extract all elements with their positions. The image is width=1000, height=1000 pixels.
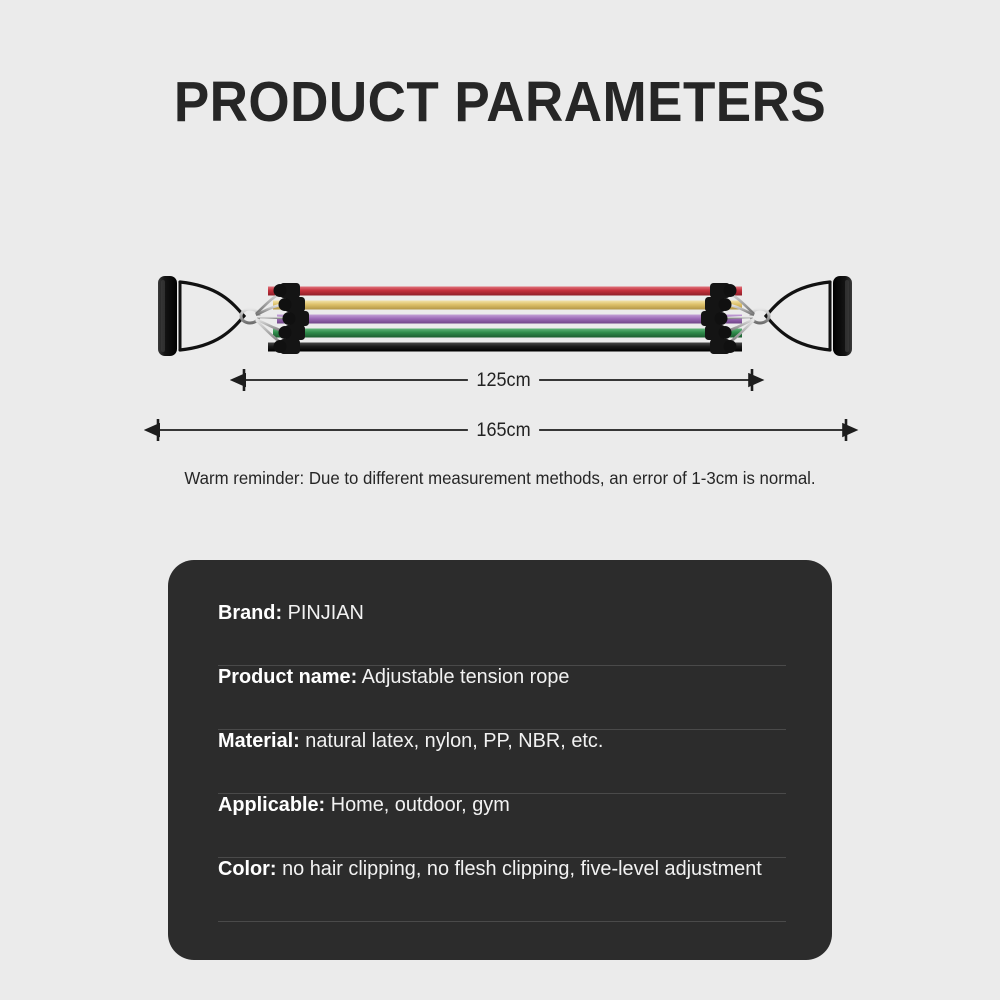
spec-label: Product name: [218, 665, 357, 688]
spec-value: natural latex, nylon, PP, NBR, etc. [300, 729, 604, 752]
specification-panel: Brand: PINJIAN Product name: Adjustable … [168, 560, 832, 960]
spec-value: PINJIAN [282, 601, 364, 624]
spec-value: no hair clipping, no flesh clipping, fiv… [277, 857, 762, 880]
page-title: PRODUCT PARAMETERS [35, 74, 965, 131]
right-handle-assembly [701, 276, 852, 356]
spec-value: Home, outdoor, gym [325, 793, 510, 816]
warm-reminder-text: Warm reminder: Due to different measurem… [20, 468, 980, 489]
dimension-label-outer: 165cm [468, 421, 539, 440]
resistance-tubes [268, 287, 742, 352]
spec-label: Applicable: [218, 793, 325, 816]
spec-row-applicable: Applicable: Home, outdoor, gym [218, 794, 786, 858]
product-illustration [140, 250, 870, 370]
spec-row-brand: Brand: PINJIAN [218, 602, 786, 666]
spec-row-material: Material: natural latex, nylon, PP, NBR,… [218, 730, 786, 794]
left-handle-assembly [158, 276, 309, 356]
spec-label: Color: [218, 857, 277, 880]
dimension-label-inner: 125cm [468, 371, 539, 390]
spec-value: Adjustable tension rope [357, 665, 569, 688]
spec-label: Material: [218, 729, 300, 752]
spec-row-color: Color: no hair clipping, no flesh clippi… [218, 858, 786, 922]
spec-label: Brand: [218, 601, 282, 624]
spec-row-product-name: Product name: Adjustable tension rope [218, 666, 786, 730]
